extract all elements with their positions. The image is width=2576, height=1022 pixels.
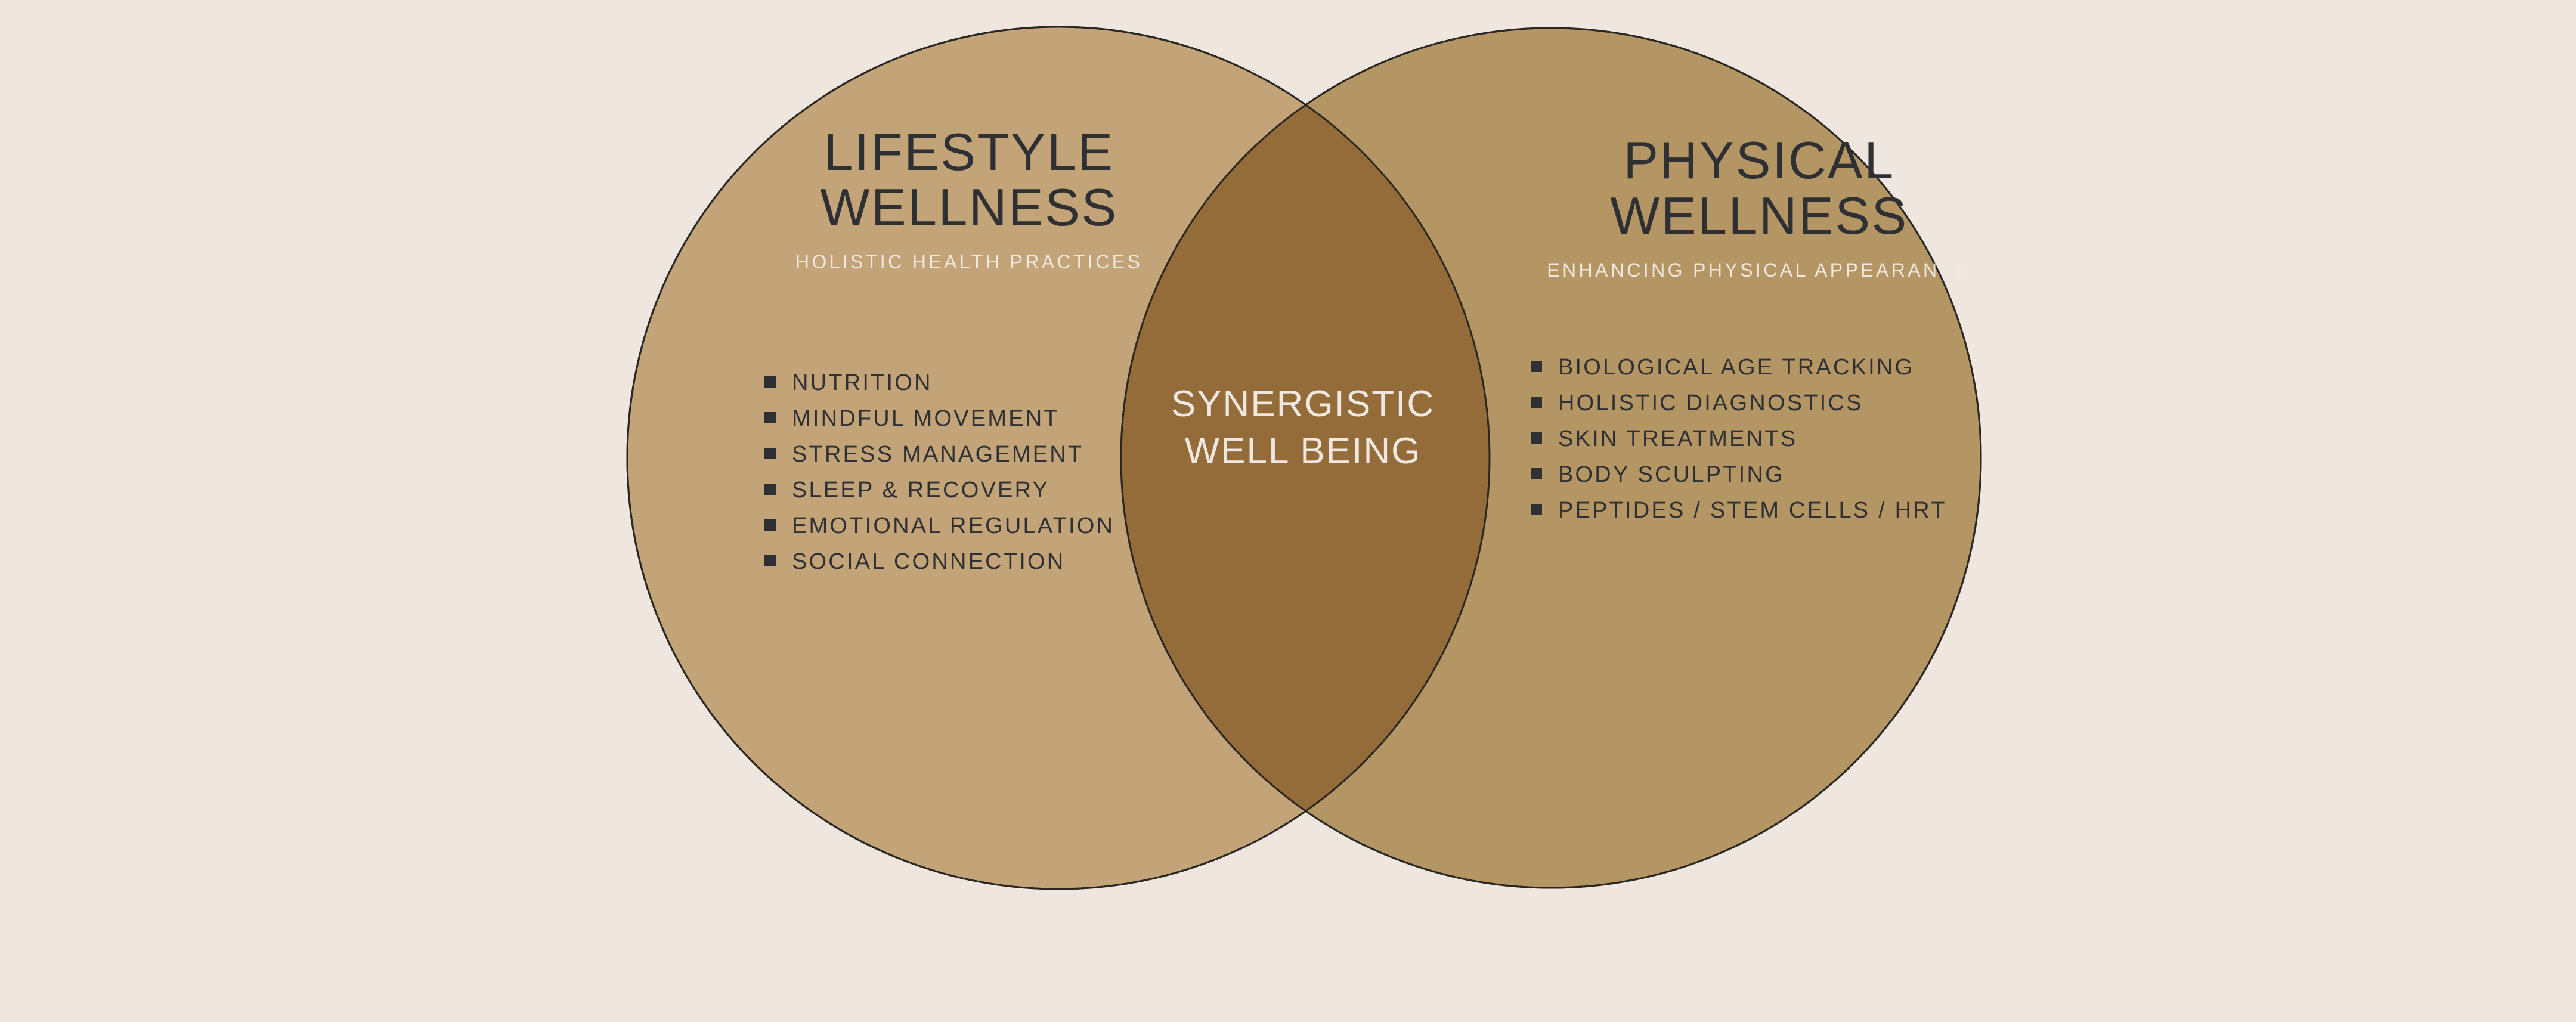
list-item-label: NUTRITION: [792, 370, 933, 395]
bullet-square-icon: [764, 376, 776, 388]
list-item-label: HOLISTIC DIAGNOSTICS: [1558, 391, 1863, 416]
bullet-square-icon: [1531, 361, 1542, 372]
right-heading-line-2: WELLNESS: [1431, 188, 2087, 243]
left-subtitle: HOLISTIC HEALTH PRACTICES: [627, 251, 1311, 273]
list-item[interactable]: PEPTIDES / STEM CELLS / HRT: [1531, 493, 1996, 528]
right-heading: PHYSICAL WELLNESS: [1431, 132, 2087, 244]
list-item-label: BIOLOGICAL AGE TRACKING: [1558, 355, 1914, 380]
right-subtitle: ENHANCING PHYSICAL APPEARANCE: [1431, 259, 2087, 281]
list-item[interactable]: SOCIAL CONNECTION: [764, 544, 1253, 580]
bullet-square-icon: [764, 448, 776, 459]
intersection-label-line-1: SYNERGISTIC: [1121, 380, 1485, 428]
left-heading: LIFESTYLE WELLNESS: [627, 124, 1311, 236]
list-item[interactable]: SLEEP & RECOVERY: [764, 472, 1253, 508]
list-item[interactable]: EMOTIONAL REGULATION: [764, 508, 1253, 544]
list-item-label: SLEEP & RECOVERY: [792, 478, 1049, 503]
bullet-square-icon: [764, 484, 776, 495]
right-item-list: BIOLOGICAL AGE TRACKING HOLISTIC DIAGNOS…: [1531, 349, 1996, 528]
list-item[interactable]: BIOLOGICAL AGE TRACKING: [1531, 349, 1996, 385]
left-heading-line-2: WELLNESS: [627, 179, 1311, 235]
list-item-label: SKIN TREATMENTS: [1558, 426, 1797, 451]
bullet-square-icon: [764, 412, 776, 423]
venn-diagram: LIFESTYLE WELLNESS HOLISTIC HEALTH PRACT…: [0, 0, 2576, 1022]
list-item-label: EMOTIONAL REGULATION: [792, 513, 1114, 538]
list-item-label: STRESS MANAGEMENT: [792, 442, 1083, 467]
list-item-label: PEPTIDES / STEM CELLS / HRT: [1558, 498, 1947, 523]
bullet-square-icon: [1531, 397, 1542, 408]
list-item[interactable]: HOLISTIC DIAGNOSTICS: [1531, 385, 1996, 421]
right-heading-line-1: PHYSICAL: [1431, 132, 2087, 188]
list-item-label: MINDFUL MOVEMENT: [792, 406, 1060, 431]
bullet-square-icon: [1531, 504, 1542, 515]
intersection-label-line-2: WELL BEING: [1121, 428, 1485, 475]
bullet-square-icon: [764, 519, 776, 531]
list-item[interactable]: BODY SCULPTING: [1531, 457, 1996, 493]
bullet-square-icon: [764, 555, 776, 566]
list-item-label: SOCIAL CONNECTION: [792, 549, 1065, 574]
bullet-square-icon: [1531, 468, 1542, 479]
left-heading-line-1: LIFESTYLE: [627, 124, 1311, 179]
list-item[interactable]: SKIN TREATMENTS: [1531, 421, 1996, 457]
bullet-square-icon: [1531, 432, 1542, 444]
left-set-header: LIFESTYLE WELLNESS HOLISTIC HEALTH PRACT…: [627, 124, 1311, 273]
right-set-header: PHYSICAL WELLNESS ENHANCING PHYSICAL APP…: [1431, 132, 2087, 281]
intersection-label: SYNERGISTIC WELL BEING: [1121, 380, 1485, 475]
list-item-label: BODY SCULPTING: [1558, 462, 1785, 487]
